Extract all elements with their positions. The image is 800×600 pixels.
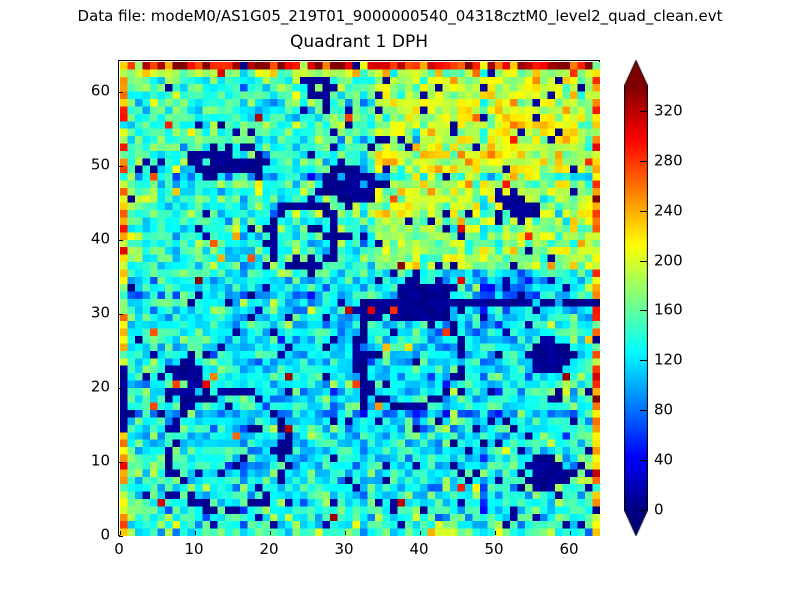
x-tick-label: 0 [114, 541, 124, 558]
x-tick-label: 10 [184, 541, 203, 558]
colorbar-tick-mark [640, 261, 647, 262]
dph-heatmap-image[interactable] [120, 62, 600, 536]
colorbar-tick-mark [640, 111, 647, 112]
colorbar-tick-mark [640, 310, 647, 311]
x-tick-mark [345, 531, 346, 535]
x-tick-label: 40 [409, 541, 428, 558]
data-file-suptitle: Data file: modeM0/AS1G05_219T01_90000005… [0, 6, 800, 26]
y-tick-mark [119, 462, 123, 463]
colorbar-tick-labels: 04080120160200240280320 [624, 60, 744, 536]
page-title: Quadrant 1 DPH [118, 31, 600, 53]
y-tick-label: 30 [91, 304, 110, 321]
y-tick-label: 50 [91, 156, 110, 173]
colorbar-tick-mark [640, 460, 647, 461]
x-tick-mark [570, 531, 571, 535]
x-tick-label: 30 [334, 541, 353, 558]
colorbar-tick-label: 280 [654, 152, 683, 169]
y-tick-label: 40 [91, 230, 110, 247]
y-axis-tick-labels: 0102030405060 [78, 0, 110, 600]
colorbar-tick-label: 120 [654, 352, 683, 369]
y-tick-mark [119, 314, 123, 315]
x-tick-mark [420, 531, 421, 535]
colorbar-tick-label: 240 [654, 202, 683, 219]
colorbar-tick-label: 160 [654, 302, 683, 319]
colorbar-tick-label: 200 [654, 252, 683, 269]
heatmap-axes[interactable] [118, 60, 600, 536]
y-tick-mark [119, 536, 123, 537]
colorbar-tick-label: 0 [654, 502, 664, 519]
y-tick-label: 10 [91, 452, 110, 469]
colorbar-tick-label: 80 [654, 402, 673, 419]
colorbar-tick-mark [640, 410, 647, 411]
x-tick-label: 50 [484, 541, 503, 558]
y-tick-mark [119, 166, 123, 167]
y-tick-mark [119, 388, 123, 389]
x-tick-mark [495, 531, 496, 535]
colorbar-tick-mark [640, 360, 647, 361]
y-tick-mark [119, 92, 123, 93]
x-tick-mark [120, 531, 121, 535]
x-tick-label: 20 [259, 541, 278, 558]
x-tick-mark [195, 531, 196, 535]
colorbar-tick-label: 320 [654, 102, 683, 119]
colorbar-tick-mark [640, 211, 647, 212]
y-tick-label: 60 [91, 82, 110, 99]
x-tick-mark [270, 531, 271, 535]
y-tick-mark [119, 240, 123, 241]
colorbar-tick-mark [640, 510, 647, 511]
colorbar-tick-label: 40 [654, 452, 673, 469]
x-tick-label: 60 [559, 541, 578, 558]
y-tick-label: 0 [100, 527, 110, 544]
y-tick-label: 20 [91, 378, 110, 395]
colorbar-tick-mark [640, 161, 647, 162]
figure-canvas: Data file: modeM0/AS1G05_219T01_90000005… [0, 0, 800, 600]
